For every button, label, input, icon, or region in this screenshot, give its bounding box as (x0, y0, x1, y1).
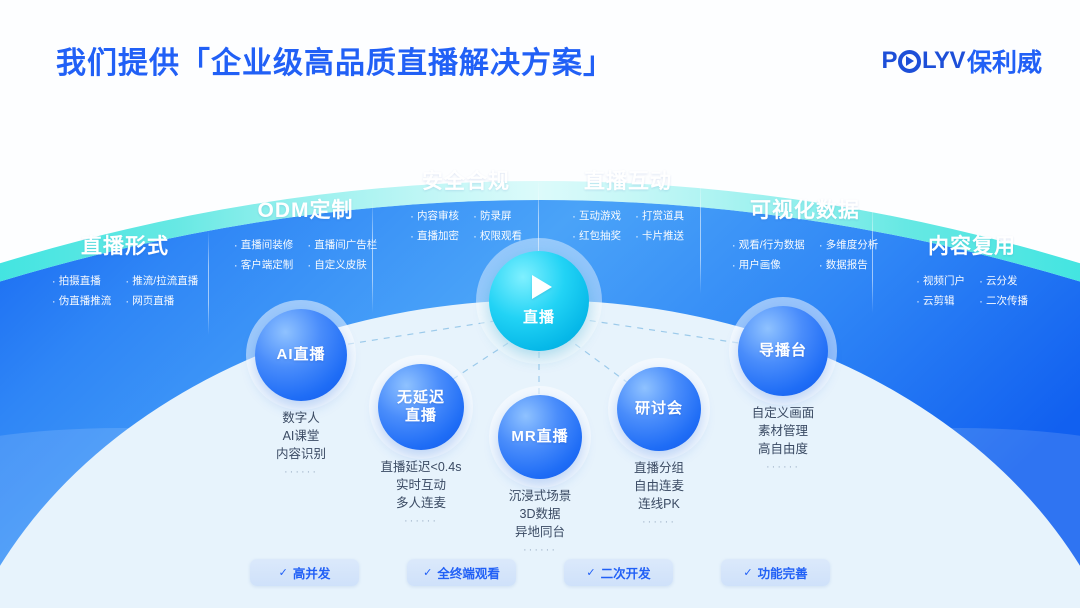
tag-complete-features[interactable]: ✓ 功能完善 (721, 559, 830, 586)
column-item: 伪直播推流 (52, 293, 112, 308)
column-item: 推流/拉流直播 (125, 273, 198, 288)
logo-play-icon (898, 50, 921, 73)
column-title: 安全合规 (376, 165, 556, 195)
column-item: 网页直播 (125, 293, 198, 308)
node-label: MR直播 (511, 428, 568, 446)
column-item: 二次传播 (979, 293, 1028, 308)
center-node-live[interactable]: 直播 (489, 251, 589, 351)
column-item: 红包抽奖 (572, 228, 621, 243)
column-security: 安全合规 内容审核 防录屏 直播加密 权限观看 (376, 165, 556, 243)
node-label-line1: 无延迟 (397, 389, 445, 406)
column-item: 数据报告 (819, 257, 879, 272)
column-item: 直播加密 (410, 228, 459, 243)
node-ai-live[interactable]: AI直播 数字人 AI课堂 内容识别 ······ (255, 309, 347, 401)
column-item: 内容审核 (410, 208, 459, 223)
check-icon: ✓ (423, 566, 432, 579)
node-label: 导播台 (759, 342, 807, 360)
node-desc-line: 素材管理 (698, 422, 868, 440)
column-divider (872, 198, 873, 313)
node-desc-line: 直播延迟<0.4s (336, 458, 506, 476)
node-low-latency-live[interactable]: 无延迟 直播 直播延迟<0.4s 实时互动 多人连麦 ······ (378, 364, 464, 450)
check-icon: ✓ (586, 566, 595, 579)
column-item: 权限观看 (473, 228, 522, 243)
page-title: 我们提供「企业级高品质直播解决方案」 (56, 38, 614, 82)
column-divider (208, 230, 209, 335)
node-mr-live[interactable]: MR直播 沉浸式场景 3D数据 异地同台 ······ (498, 395, 582, 479)
node-label: 研讨会 (635, 400, 683, 418)
check-icon: ✓ (279, 566, 288, 579)
column-item: 打赏道具 (635, 208, 684, 223)
column-item: 拍摄直播 (52, 273, 112, 288)
logo-chinese: 保利威 (967, 43, 1042, 79)
column-item: 云分发 (979, 273, 1028, 288)
column-item: 直播间广告栏 (307, 237, 377, 252)
node-sphere: MR直播 (498, 395, 582, 479)
slide-header: 我们提供「企业级高品质直播解决方案」 P LYV 保利威 (0, 0, 1080, 118)
node-sphere: 导播台 (738, 306, 828, 396)
column-item: 多维度分析 (819, 237, 879, 252)
node-desc-line: 自定义画面 (698, 404, 868, 422)
node-desc-ellipsis: ······ (574, 515, 744, 531)
column-items: 拍摄直播 推流/拉流直播 伪直播推流 网页直播 (20, 273, 230, 308)
column-item: 用户画像 (732, 257, 805, 272)
node-desc-line: 自由连麦 (574, 477, 744, 495)
node-label: 无延迟 直播 (397, 389, 445, 424)
column-reuse: 内容复用 视频门户 云分发 云剪辑 二次传播 (872, 230, 1072, 308)
node-sphere: 无延迟 直播 (378, 364, 464, 450)
slide-canvas: 我们提供「企业级高品质直播解决方案」 P LYV 保利威 直播形式 拍摄直播 推… (0, 0, 1080, 608)
column-items: 视频门户 云分发 云剪辑 二次传播 (872, 273, 1072, 308)
tag-secondary-development[interactable]: ✓ 二次开发 (564, 559, 673, 586)
column-item: 自定义皮肤 (307, 257, 377, 272)
node-description: 自定义画面 素材管理 高自由度 ······ (698, 404, 868, 476)
column-item: 卡片推送 (635, 228, 684, 243)
node-desc-line: 数字人 (216, 409, 386, 427)
check-icon: ✓ (743, 566, 752, 579)
node-label-line2: 直播 (405, 407, 437, 424)
center-sphere: 直播 (489, 251, 589, 351)
column-title: 内容复用 (872, 230, 1072, 260)
column-divider (372, 198, 373, 313)
column-item: 客户端定制 (234, 257, 294, 272)
center-label: 直播 (523, 306, 555, 327)
column-interaction: 直播互动 互动游戏 打赏道具 红包抽奖 卡片推送 (538, 165, 718, 243)
logo-letters-lyv: LYV (922, 49, 965, 73)
node-desc-ellipsis: ······ (455, 543, 625, 559)
logo-wordmark: P LYV (881, 49, 965, 73)
node-seminar[interactable]: 研讨会 直播分组 自由连麦 连线PK ······ (617, 367, 701, 451)
node-desc-ellipsis: ······ (698, 460, 868, 476)
play-icon (532, 275, 552, 299)
tag-label: 二次开发 (601, 563, 651, 582)
column-item: 互动游戏 (572, 208, 621, 223)
tag-label: 功能完善 (758, 563, 808, 582)
column-item: 防录屏 (473, 208, 522, 223)
column-title: 可视化数据 (700, 194, 910, 224)
logo-letter-p: P (881, 49, 897, 73)
column-item: 视频门户 (916, 273, 965, 288)
node-sphere: 研讨会 (617, 367, 701, 451)
node-desc-line: AI课堂 (216, 427, 386, 445)
node-director-console[interactable]: 导播台 自定义画面 素材管理 高自由度 ······ (738, 306, 828, 396)
column-item: 直播间装修 (234, 237, 294, 252)
tag-all-terminal-viewing[interactable]: ✓ 全终端观看 (407, 559, 516, 586)
feature-tags: ✓ 高并发 ✓ 全终端观看 ✓ 二次开发 ✓ 功能完善 (0, 559, 1080, 586)
column-items: 互动游戏 打赏道具 红包抽奖 卡片推送 (538, 208, 718, 243)
column-item: 云剪辑 (916, 293, 965, 308)
tag-label: 高并发 (293, 563, 331, 582)
node-desc-line: 高自由度 (698, 440, 868, 458)
column-item: 观看/行为数据 (732, 237, 805, 252)
node-desc-line: 连线PK (574, 495, 744, 513)
tag-label: 全终端观看 (437, 563, 500, 582)
node-sphere: AI直播 (255, 309, 347, 401)
node-label: AI直播 (276, 346, 325, 364)
column-divider (700, 176, 701, 294)
polyv-logo: P LYV 保利威 (881, 43, 1042, 79)
tag-high-concurrency[interactable]: ✓ 高并发 (250, 559, 359, 586)
column-title: 直播互动 (538, 165, 718, 195)
